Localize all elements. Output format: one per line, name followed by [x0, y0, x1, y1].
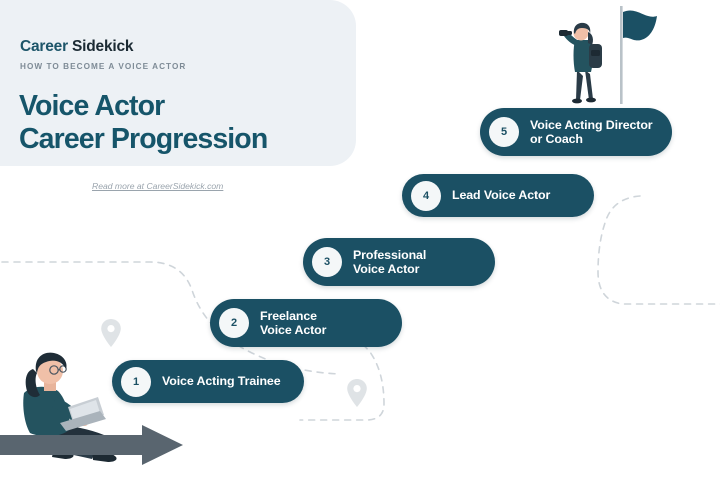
- step-pill-4[interactable]: 4 Lead Voice Actor: [402, 174, 594, 217]
- step-label-3: Professional Voice Actor: [353, 248, 426, 277]
- step-number-badge-3: 3: [312, 247, 342, 277]
- step-label-5: Voice Acting Director or Coach: [530, 118, 653, 147]
- step-number-badge-5: 5: [489, 117, 519, 147]
- page-title-line2: Career Progression: [19, 123, 267, 155]
- step-label-4: Lead Voice Actor: [452, 188, 550, 203]
- step-number-badge-4: 4: [411, 181, 441, 211]
- progress-arrow-icon: [0, 425, 185, 465]
- step-pill-3[interactable]: 3 Professional Voice Actor: [303, 238, 495, 286]
- brand-logo: Career Sidekick: [20, 38, 133, 56]
- step-label-2: Freelance Voice Actor: [260, 309, 326, 338]
- page-title: Voice Actor Career Progression: [19, 90, 359, 156]
- page-title-line1: Voice Actor: [19, 90, 164, 122]
- kicker-text: HOW TO BECOME A VOICE ACTOR: [20, 62, 186, 71]
- step-pill-5[interactable]: 5 Voice Acting Director or Coach: [480, 108, 672, 156]
- step-pill-2[interactable]: 2 Freelance Voice Actor: [210, 299, 402, 347]
- hiker-with-flag-illustration: [545, 0, 665, 110]
- map-pin-icon-center: [346, 378, 368, 408]
- brand-logo-primary: Career: [20, 38, 68, 55]
- brand-logo-secondary: Sidekick: [72, 38, 133, 55]
- step-number-badge-2: 2: [219, 308, 249, 338]
- infographic-canvas: 1 Voice Acting Trainee 2 Freelance Voice…: [0, 0, 720, 478]
- read-more-link[interactable]: Read more at CareerSidekick.com: [92, 181, 223, 191]
